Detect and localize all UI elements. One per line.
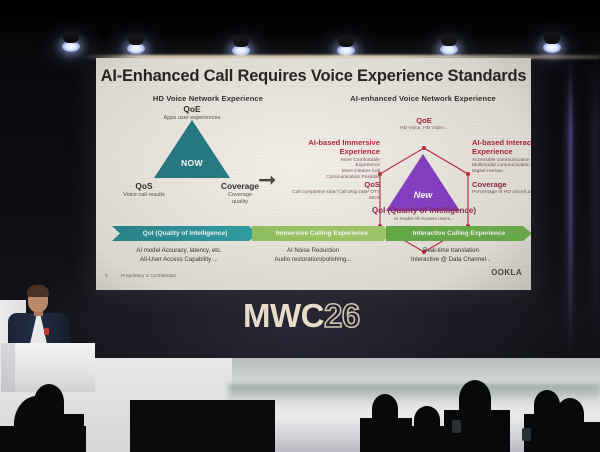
left-section-heading: HD Voice Network Experience <box>128 94 288 103</box>
capability-chevron-row: QoI (Quality of Intelligence) Immersive … <box>112 226 516 241</box>
chevron-immersive-sub: AI Noise Reduction Audio restoration/pol… <box>248 246 378 265</box>
ceiling <box>0 0 600 58</box>
audience-shoulders <box>18 414 84 452</box>
new-label: New <box>386 190 460 200</box>
audience-silhouettes <box>0 370 600 452</box>
new-triangle-shape <box>386 154 460 211</box>
left-vertex-qos: QoS Voice call results <box>106 182 182 199</box>
mwc-text-outline: 26 <box>324 297 360 334</box>
right-vertex-interaction: AI-based Interaction Experience Accessib… <box>472 138 531 175</box>
mwc-wall-graphic: MWC26 <box>243 299 360 332</box>
right-qoe-label: QoE <box>364 116 484 125</box>
now-triangle-shape <box>154 120 230 178</box>
hexagon-node <box>466 172 470 176</box>
interaction-label-line2: Experience <box>472 147 531 156</box>
conference-room-photo: AI-Enhanced Call Requires Voice Experien… <box>0 0 600 452</box>
audience-phone <box>522 428 531 441</box>
qoi-sub: AI model All-Access users... <box>344 217 504 223</box>
chevron-qoi[interactable]: QoI (Quality of Intelligence) <box>112 226 258 241</box>
interaction-sub: Accessible communication Multimodal comm… <box>472 158 531 176</box>
immersive-label-line2: Experience <box>295 147 380 156</box>
left-qos-sub: Voice call results <box>106 192 182 199</box>
right-vertex-coverage: Coverage Percentage of HD voice/Latency <box>472 180 531 196</box>
now-label: NOW <box>154 158 230 168</box>
right-section-heading: AI-enhanced Voice Network Experience <box>318 94 528 103</box>
right-vertex-qos: QoS Call completion rate/ Call drop rate… <box>282 180 380 202</box>
chevron-interactive-sub: Real-time translation Interactive @ Data… <box>384 246 518 265</box>
audience-head <box>478 440 506 452</box>
right-vertex-qoe: QoE HD Voice, HD Video... <box>364 116 484 132</box>
confidentiality-note: Proprietary & Confidential <box>121 274 176 279</box>
right-coverage-label: Coverage <box>472 180 531 189</box>
audience-shoulders <box>546 422 600 452</box>
backdrop-light-streak <box>569 58 572 358</box>
backdrop-light-streak <box>592 58 599 358</box>
left-coverage-sub: Coverage quality <box>200 192 280 205</box>
right-vertex-immersive: AI-based Immersive Experience More Comfo… <box>295 138 380 181</box>
slide-page-number: 9 <box>105 274 108 279</box>
right-vertex-qoi: QoI (Quality of Intelligence) AI model A… <box>344 206 504 223</box>
hexagon-node <box>422 146 426 150</box>
ceiling-spotlight-icon <box>440 44 458 55</box>
right-qoe-sub: HD Voice, HD Video... <box>364 126 484 132</box>
audience-phone <box>452 420 461 433</box>
right-coverage-sub: Percentage of HD voice/Latency <box>472 190 531 196</box>
chevron-immersive[interactable]: Immersive Calling Experience <box>252 226 392 241</box>
right-arrow-icon: ➞ <box>258 170 276 192</box>
presentation-slide: AI-Enhanced Call Requires Voice Experien… <box>96 58 531 290</box>
immersive-label-line1: AI-based Immersive <box>295 138 380 147</box>
left-qoe-label: QoE <box>152 105 232 114</box>
qoi-label: QoI (Quality of Intelligence) <box>344 206 504 216</box>
right-qos-sub: Call completion rate/ Call drop rate/ OT… <box>282 190 380 202</box>
chevron-qoi-sub: AI model Accuracy, latency, etc. All-Use… <box>112 246 246 265</box>
chevron-interactive[interactable]: Interactive Calling Experience <box>386 226 531 241</box>
ookla-logo: OOKLA <box>491 268 522 277</box>
right-qos-label: QoS <box>282 180 380 189</box>
ceiling-spotlight-icon <box>127 43 145 54</box>
slide-title: AI-Enhanced Call Requires Voice Experien… <box>96 67 531 86</box>
immersive-sub: More Comfortable Experience More Clearer… <box>295 158 380 182</box>
left-qos-label: QoS <box>106 182 182 191</box>
mwc-text-solid: MWC <box>243 297 324 334</box>
ceiling-spotlight-icon <box>543 42 561 53</box>
interaction-label-line1: AI-based Interaction <box>472 138 531 147</box>
ceiling-spotlight-icon <box>62 41 80 52</box>
